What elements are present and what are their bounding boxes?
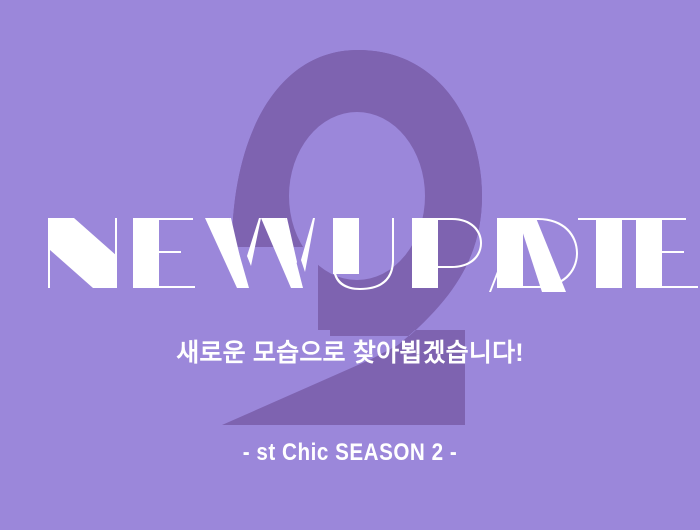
headline-new-update: NEW UPDATE <box>0 206 700 302</box>
headline-letter-W <box>205 218 315 288</box>
headline-letter-N <box>48 218 117 288</box>
headline-letter-P <box>412 218 482 288</box>
headline-letter-E <box>133 218 195 288</box>
subtitle-korean: 새로운 모습으로 찾아뵙겠습니다! <box>0 336 700 370</box>
tagline-season: - st Chic SEASON 2 - <box>49 438 651 468</box>
headline-letter-T <box>578 218 640 288</box>
headline-letter-U <box>333 218 394 290</box>
headline-letter-E-2 <box>624 218 698 288</box>
promo-banner: NEW UPDATE 새로운 모습으로 찾아뵙겠습니다! - st Chic S… <box>0 0 700 530</box>
headline-artwork <box>0 206 700 302</box>
